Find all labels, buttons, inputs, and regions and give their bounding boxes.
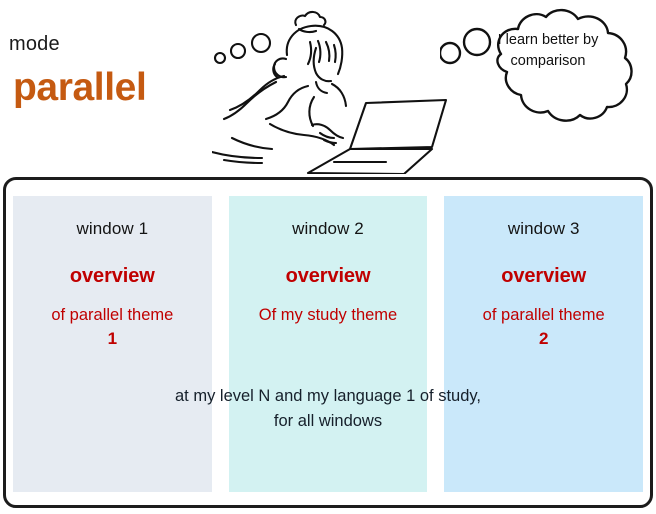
window-1-subtitle-text: of parallel theme	[51, 306, 173, 324]
window-1-overview: overview	[13, 265, 212, 288]
window-3-title: window 3	[444, 219, 643, 239]
mode-label: mode	[9, 33, 60, 56]
window-3-overview: overview	[444, 265, 643, 288]
slide-canvas: mode parallel	[0, 0, 656, 514]
window-2-subtitle-text: Of my study theme	[259, 306, 397, 324]
window-panel-1[interactable]: window 1 overview of parallel theme 1	[13, 196, 212, 492]
window-panel-3[interactable]: window 3 overview of parallel theme 2	[444, 196, 643, 492]
window-panel-2[interactable]: window 2 overview Of my study theme	[229, 196, 428, 492]
thought-bubble-text: I learn better by comparison	[462, 30, 634, 72]
person-at-laptop-thinking-icon	[212, 2, 462, 174]
window-3-theme-number: 2	[448, 328, 639, 349]
window-2-title: window 2	[229, 219, 428, 239]
window-1-subtitle: of parallel theme 1	[13, 305, 212, 349]
window-2-subtitle: Of my study theme	[229, 305, 428, 326]
window-3-subtitle: of parallel theme 2	[444, 305, 643, 349]
window-1-theme-number: 1	[17, 328, 208, 349]
window-1-title: window 1	[13, 219, 212, 239]
windows-row: window 1 overview of parallel theme 1 wi…	[13, 196, 643, 492]
window-3-subtitle-text: of parallel theme	[483, 306, 605, 324]
mode-value: parallel	[13, 66, 146, 110]
window-2-overview: overview	[229, 265, 428, 288]
